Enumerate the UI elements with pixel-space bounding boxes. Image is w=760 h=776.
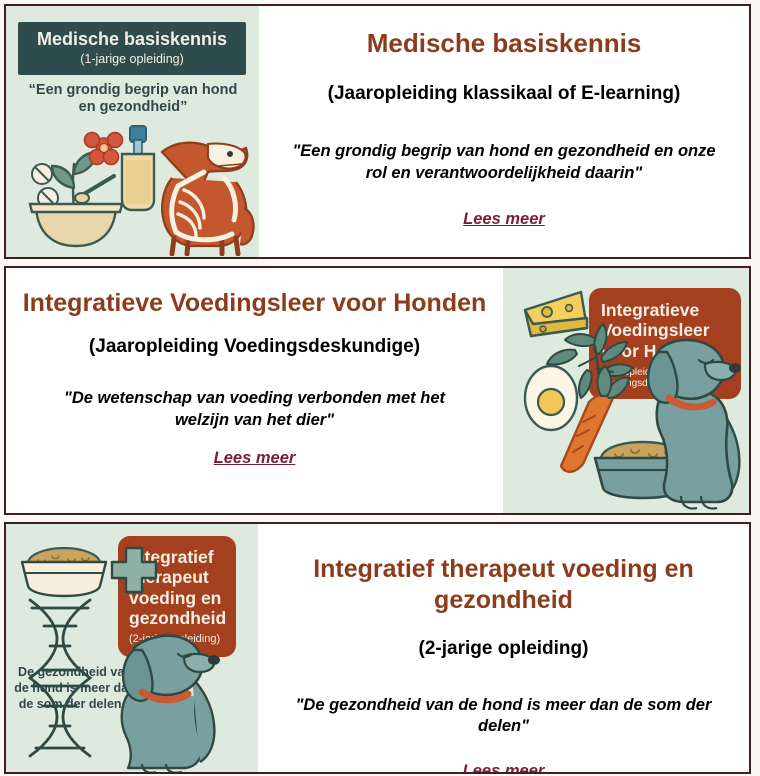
course-subtitle: (Jaaropleiding Voedingsdeskundige) [89,335,420,359]
dog-skeleton-icon [162,143,254,254]
course-title: Integratief therapeut voeding en gezondh… [272,554,735,615]
course-card-medische-basiskennis[interactable]: Medische basiskennis (1-jarige opleiding… [4,4,751,259]
illustration-artwork-therapy [6,528,258,772]
egg-icon [525,366,577,430]
illustration-artwork-medical [12,116,258,256]
red-flower-icon [85,133,123,165]
course-card-integratief-therapeut[interactable]: Integratief therapeut voeding en gezondh… [4,522,751,774]
course-subtitle: (2-jarige opleiding) [419,637,589,661]
plus-icon [112,548,156,592]
illustration-badge-title: Medische basiskennis [22,30,242,50]
course-subtitle: (Jaaropleiding klassikaal of E-learning) [328,82,681,106]
course-quote: "De gezondheid van de hond is meer dan d… [289,695,719,738]
illustration-caption: “Een grondig begrip van hond en gezondhe… [20,82,246,117]
course-illustration-voedingsleer: Integratieve Voedingsleer voor Honden (J… [503,268,749,513]
course-card-integratieve-voedingsleer[interactable]: Integratieve Voedingsleer voor Honden (J… [4,266,751,515]
dropper-bottle-icon [122,126,154,210]
mortar-and-pestle-icon [30,176,122,246]
course-quote: "De wetenschap van voeding verbonden met… [40,388,470,431]
read-more-link[interactable]: Lees meer [214,449,296,468]
course-text-panel: Medische basiskennis (Jaaropleiding klas… [259,6,749,257]
illustration-badge: Medische basiskennis (1-jarige opleiding… [18,22,246,75]
course-quote: "Een grondig begrip van hond en gezondhe… [284,141,724,184]
course-illustration-medische-basiskennis: Medische basiskennis (1-jarige opleiding… [6,6,259,257]
illustration-artwork-nutrition [503,274,749,513]
course-title: Medische basiskennis [367,28,642,60]
cheese-icon [525,292,587,336]
dog-bowl-icon [22,548,106,596]
course-text-panel: Integratieve Voedingsleer voor Honden (J… [6,268,503,513]
illustration-badge-subtitle: (1-jarige opleiding) [22,52,242,66]
course-title: Integratieve Voedingsleer voor Honden [23,288,487,319]
sitting-dog-icon [122,636,220,772]
read-more-link[interactable]: Lees meer [463,762,545,774]
read-more-link[interactable]: Lees meer [463,210,545,229]
dna-helix-icon [30,600,90,756]
course-list-page: Medische basiskennis (1-jarige opleiding… [0,0,760,776]
course-illustration-therapeut: Integratief therapeut voeding en gezondh… [6,524,258,772]
course-text-panel: Integratief therapeut voeding en gezondh… [258,524,749,772]
